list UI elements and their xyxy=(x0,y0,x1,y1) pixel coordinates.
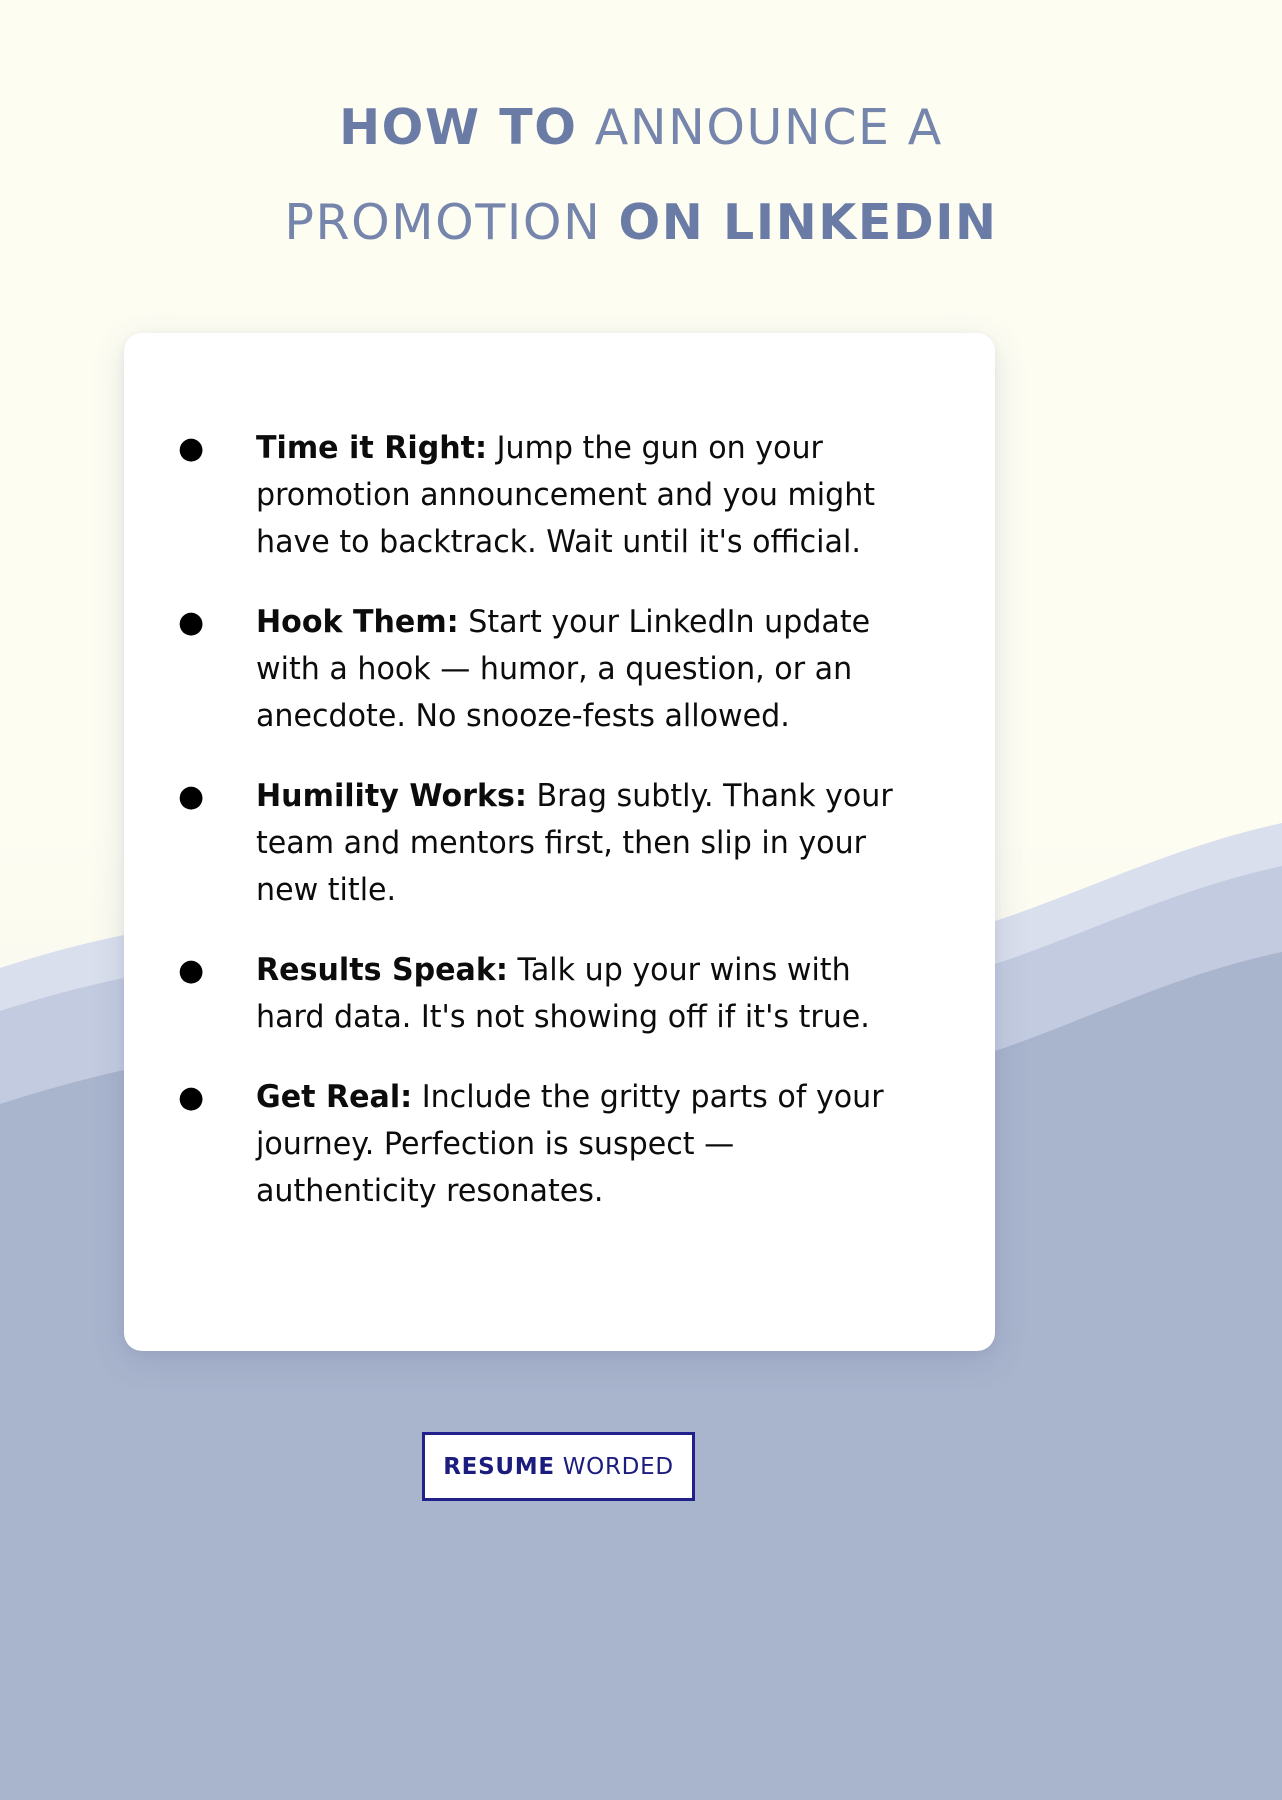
list-item: ● Get Real: Include the gritty parts of … xyxy=(172,1074,943,1215)
list-item: ● Hook Them: Start your LinkedIn update … xyxy=(172,599,943,740)
page-title: HOW TO ANNOUNCE A PROMOTION ON LINKEDIN xyxy=(0,86,1282,276)
bullet-icon: ● xyxy=(172,599,256,646)
tips-card: ● Time it Right: Jump the gun on your pr… xyxy=(124,333,995,1351)
bullet-icon: ● xyxy=(172,1074,256,1121)
tips-list: ● Time it Right: Jump the gun on your pr… xyxy=(172,425,943,1215)
resume-worded-logo[interactable]: RESUME WORDED xyxy=(422,1432,695,1501)
tip-text: Hook Them: Start your LinkedIn update wi… xyxy=(256,599,912,740)
logo-text: RESUME WORDED xyxy=(443,1454,673,1480)
logo-text-strong: RESUME xyxy=(443,1454,554,1480)
page-title-line1-bold: HOW TO xyxy=(339,99,577,156)
tip-lead: Get Real: xyxy=(256,1079,412,1115)
tip-text: Results Speak: Talk up your wins with ha… xyxy=(256,947,912,1041)
bullet-icon: ● xyxy=(172,425,256,472)
page-title-line-1: HOW TO ANNOUNCE A xyxy=(0,86,1282,181)
bullet-icon: ● xyxy=(172,947,256,994)
page-title-line2-light: PROMOTION xyxy=(284,194,601,251)
logo-text-light: WORDED xyxy=(555,1454,674,1480)
page-title-line2-space xyxy=(601,194,618,251)
tip-lead: Results Speak: xyxy=(256,952,508,988)
tip-lead: Hook Them: xyxy=(256,604,459,640)
bullet-icon: ● xyxy=(172,773,256,820)
tip-text: Get Real: Include the gritty parts of yo… xyxy=(256,1074,912,1215)
page-title-line-2: PROMOTION ON LINKEDIN xyxy=(0,181,1282,276)
page-title-line1-light: ANNOUNCE A xyxy=(595,99,943,156)
tip-text: Humility Works: Brag subtly. Thank your … xyxy=(256,773,912,914)
list-item: ● Time it Right: Jump the gun on your pr… xyxy=(172,425,943,566)
tip-lead: Humility Works: xyxy=(256,778,527,814)
list-item: ● Results Speak: Talk up your wins with … xyxy=(172,947,943,1041)
tip-lead: Time it Right: xyxy=(256,430,487,466)
page-title-line1-space xyxy=(578,99,595,156)
page-title-line2-bold: ON LINKEDIN xyxy=(619,194,998,251)
list-item: ● Humility Works: Brag subtly. Thank you… xyxy=(172,773,943,914)
tip-text: Time it Right: Jump the gun on your prom… xyxy=(256,425,912,566)
